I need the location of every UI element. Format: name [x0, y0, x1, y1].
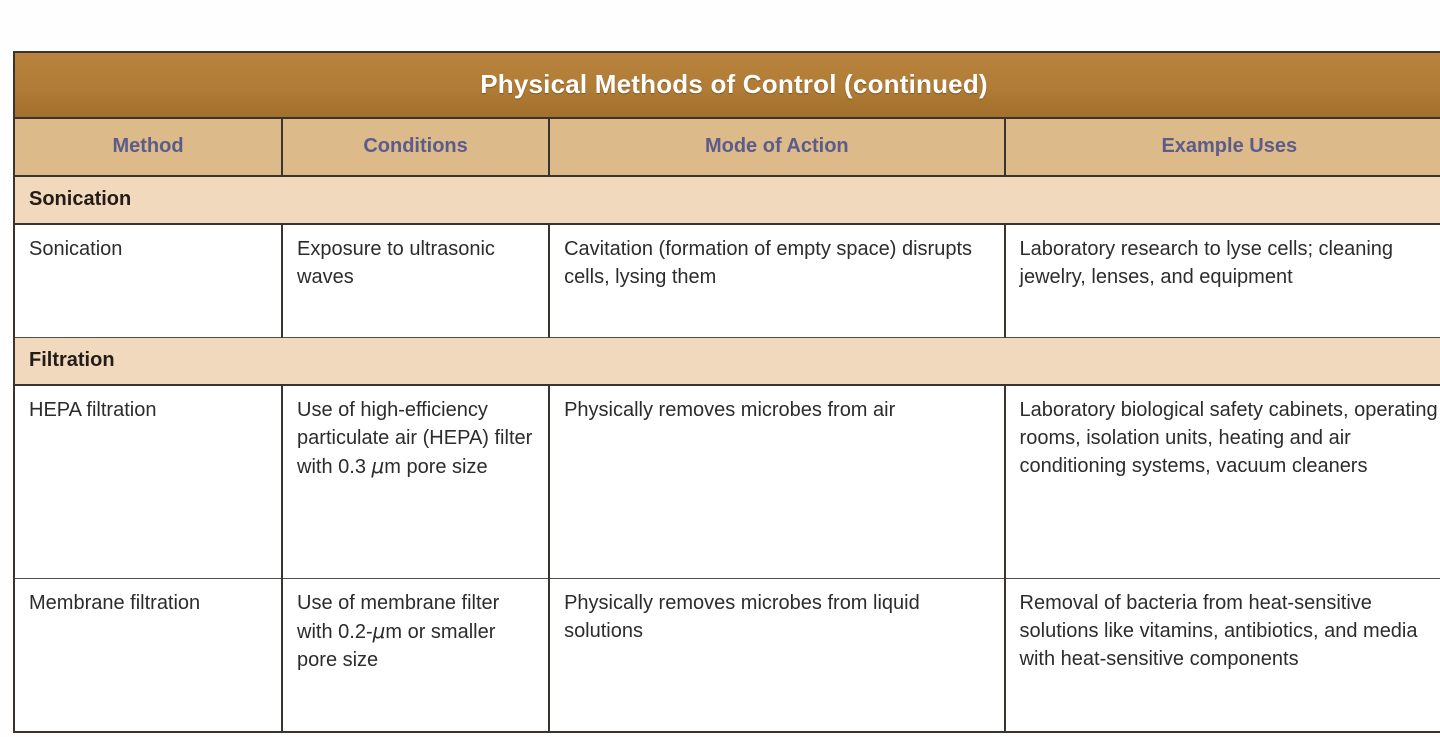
physical-methods-table-container: Physical Methods of Control (continued) … — [13, 51, 1440, 733]
cell-text-conditions: Use of high-efficiency particulate air (… — [297, 396, 536, 481]
cell-mode-of-action: Cavitation (formation of empty space) di… — [549, 224, 1004, 338]
cell-text-example-uses: Laboratory biological safety cabinets, o… — [1020, 396, 1440, 480]
page-root: Physical Methods of Control (continued) … — [0, 0, 1440, 737]
column-header-example-uses: Example Uses — [1005, 118, 1440, 176]
table-row: Membrane filtration Use of membrane filt… — [15, 579, 1440, 732]
column-header-row: Method Conditions Mode of Action Example… — [15, 118, 1440, 176]
table-title: Physical Methods of Control (continued) — [15, 53, 1440, 118]
cell-method: HEPA filtration — [15, 385, 282, 579]
cell-mode-of-action: Physically removes microbes from air — [549, 385, 1004, 579]
cell-text-method: HEPA filtration — [29, 396, 269, 424]
cell-text-example-uses: Laboratory research to lyse cells; clean… — [1020, 235, 1440, 291]
column-header-mode-of-action: Mode of Action — [549, 118, 1004, 176]
table-head: Physical Methods of Control (continued) … — [15, 53, 1440, 176]
cell-example-uses: Laboratory research to lyse cells; clean… — [1005, 224, 1440, 338]
cell-text-method: Membrane filtration — [29, 589, 269, 617]
column-header-conditions: Conditions — [282, 118, 549, 176]
cell-example-uses: Laboratory biological safety cabinets, o… — [1005, 385, 1440, 579]
cell-conditions: Use of high-efficiency particulate air (… — [282, 385, 549, 579]
cell-text-mode-of-action: Physically removes microbes from air — [564, 396, 991, 424]
physical-methods-table: Physical Methods of Control (continued) … — [15, 53, 1440, 731]
group-header-row: Filtration — [15, 338, 1440, 386]
group-label-filtration: Filtration — [15, 338, 1440, 386]
group-header-row: Sonication — [15, 176, 1440, 224]
cell-example-uses: Removal of bacteria from heat-sensitive … — [1005, 579, 1440, 732]
cell-conditions: Exposure to ultrasonic waves — [282, 224, 549, 338]
table-title-row: Physical Methods of Control (continued) — [15, 53, 1440, 118]
cell-text-conditions: Exposure to ultrasonic waves — [297, 235, 536, 291]
cell-method: Membrane filtration — [15, 579, 282, 732]
column-header-method: Method — [15, 118, 282, 176]
cell-text-mode-of-action: Physically removes microbes from liquid … — [564, 589, 991, 645]
cell-text-example-uses: Removal of bacteria from heat-sensitive … — [1020, 589, 1440, 673]
table-row: Sonication Exposure to ultrasonic waves … — [15, 224, 1440, 338]
cell-mode-of-action: Physically removes microbes from liquid … — [549, 579, 1004, 732]
table-body: Sonication Sonication Exposure to ultras… — [15, 176, 1440, 731]
cell-conditions: Use of membrane filter with 0.2-μm or sm… — [282, 579, 549, 732]
table-row: HEPA filtration Use of high-efficiency p… — [15, 385, 1440, 579]
cell-text-mode-of-action: Cavitation (formation of empty space) di… — [564, 235, 991, 291]
cell-method: Sonication — [15, 224, 282, 338]
cell-text-method: Sonication — [29, 235, 269, 263]
cell-text-conditions: Use of membrane filter with 0.2-μm or sm… — [297, 589, 536, 674]
group-label-sonication: Sonication — [15, 176, 1440, 224]
